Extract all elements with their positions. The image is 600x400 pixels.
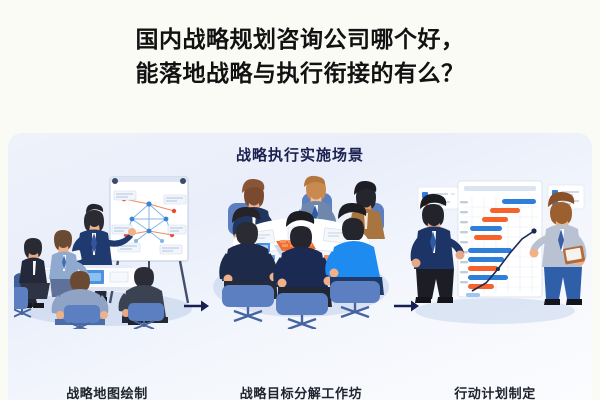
page-root: 国内战略规划咨询公司哪个好， 能落地战略与执行衔接的有么？ 战略执行实施场景 — [0, 0, 600, 400]
step-caption-1: 战略地图绘制 — [14, 383, 200, 400]
whiteboard-strategy-map-meeting-illustration — [14, 169, 200, 329]
step-panel-3: 行动计划制定 — [402, 169, 588, 359]
gantt-chart-planning-illustration — [402, 169, 588, 329]
card-title: 战略执行实施场景 — [8, 144, 592, 165]
page-title: 国内战略规划咨询公司哪个好， 能落地战略与执行衔接的有么？ — [0, 22, 600, 90]
step-panels: 战略地图绘制 — [8, 169, 592, 359]
step-caption-2: 战略目标分解工作坊 — [206, 383, 396, 400]
step-panel-2: 战略目标分解工作坊 — [206, 169, 396, 359]
headline-line-1: 国内战略规划咨询公司哪个好， — [0, 22, 600, 56]
step-caption-3: 行动计划制定 — [402, 383, 588, 400]
step-panel-1: 战略地图绘制 — [14, 169, 200, 359]
scenario-card: 战略执行实施场景 — [8, 133, 592, 400]
headline-line-2: 能落地战略与执行衔接的有么？ — [0, 56, 600, 90]
round-table-workshop-illustration — [206, 169, 396, 329]
